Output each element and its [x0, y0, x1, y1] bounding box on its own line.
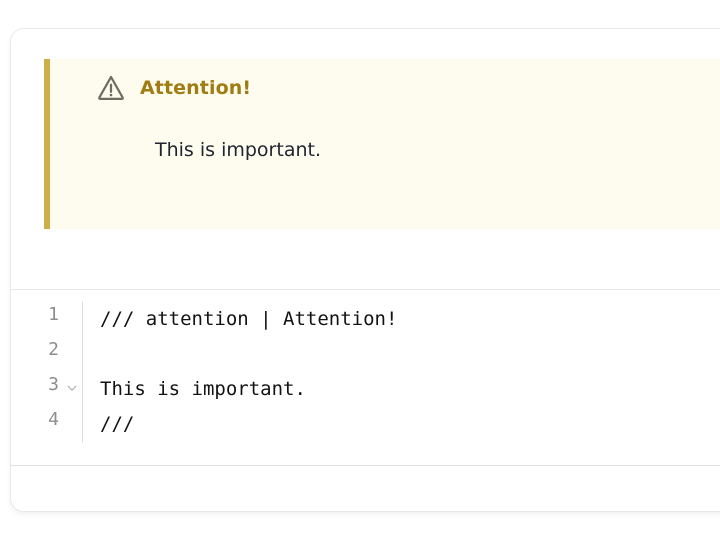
code-lines: 1 /// attention | Attention! 2 3 — [11, 302, 720, 442]
admonition-title-row: Attention! — [96, 73, 251, 103]
line-gutter: 2 — [11, 337, 82, 372]
admonition-attention: Attention! This is important. — [44, 59, 720, 229]
line-number: 4 — [48, 411, 59, 429]
chevron-down-icon[interactable] — [66, 382, 78, 394]
line-gutter: 1 — [11, 302, 82, 337]
rendered-preview-pane: Attention! This is important. — [11, 29, 720, 290]
code-line-row: 3 This is important. — [11, 372, 720, 407]
code-line-row: 2 — [11, 337, 720, 372]
code-line-row: 1 /// attention | Attention! — [11, 302, 720, 337]
line-gutter: 3 — [11, 372, 82, 407]
code-line-text[interactable]: /// — [83, 407, 720, 442]
screenshot-root: Attention! This is important. 1 /// atte… — [0, 0, 720, 544]
line-number: 3 — [48, 376, 59, 394]
example-card: Attention! This is important. 1 /// atte… — [10, 28, 720, 512]
warning-triangle-icon — [96, 73, 126, 103]
gutter-divider — [82, 337, 83, 372]
admonition-title-label: Attention! — [140, 77, 251, 99]
line-gutter: 4 — [11, 407, 82, 442]
code-line-row: 4 /// — [11, 407, 720, 442]
code-line-text[interactable]: This is important. — [83, 372, 720, 407]
card-footer — [11, 467, 720, 512]
line-number: 2 — [48, 341, 59, 359]
code-line-text[interactable]: /// attention | Attention! — [83, 302, 720, 337]
line-number: 1 — [48, 306, 59, 324]
admonition-body-text: This is important. — [155, 137, 720, 165]
source-code-pane[interactable]: 1 /// attention | Attention! 2 3 — [11, 290, 720, 466]
